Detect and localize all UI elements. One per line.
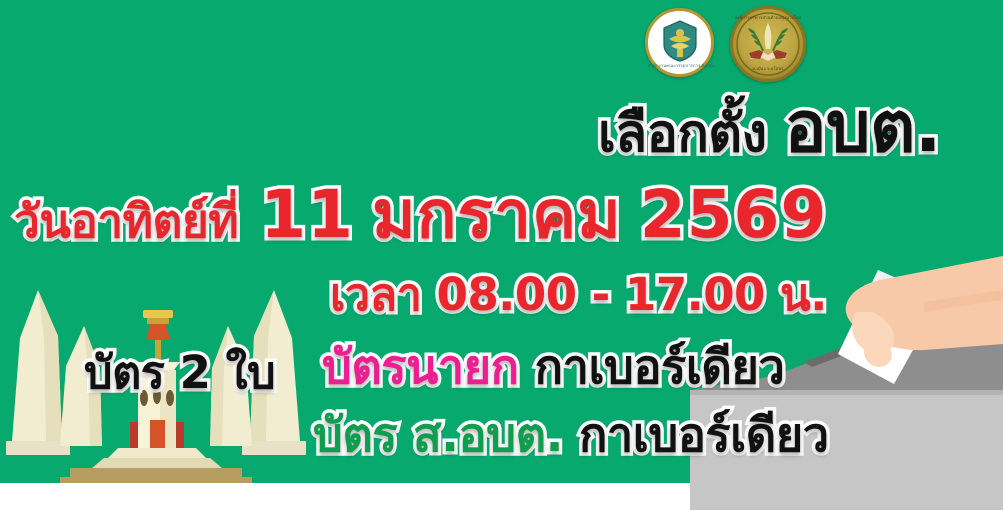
council-ballot-instruction: กาเบอร์เดียว: [579, 408, 829, 463]
council-ballot-label: บัตร ส.อบต.: [313, 408, 563, 463]
election-commission-seal: สำนักงานคณะกรรมการการเลือกตั้ง: [645, 8, 714, 77]
date-month: มกราคม: [372, 176, 622, 253]
voting-hours-line: เวลา 08.00 - 17.00 น.: [330, 272, 827, 317]
local-administration-seal: องค์การบริหารส่วนตำบลทุ่งนางโอก อ.เมือง …: [730, 6, 806, 82]
date-year: 2569: [640, 176, 828, 253]
date-day: 11: [260, 176, 354, 253]
voting-hours-text: เวลา 08.00 - 17.00 น.: [330, 268, 827, 321]
ballot-count-line: บัตร 2 ใบ: [84, 350, 275, 395]
election-announcement-poster: กกต. สำนักงานคณะกรรมการการเลื: [0, 0, 1003, 510]
hand-casting-vote-illustration: [820, 252, 1003, 382]
headline-prefix: เลือกตั้ง: [598, 104, 767, 164]
headline-main: อบต.: [784, 86, 941, 168]
mayor-ballot-label: บัตรนายก: [322, 340, 519, 395]
council-ballot-line: บัตร ส.อบต.กาเบอร์เดียว: [313, 412, 829, 459]
date-weekday-label: วันอาทิตย์ที่: [14, 194, 238, 248]
election-commission-caption: สำนักงานคณะกรรมการการเลือกตั้ง: [648, 64, 711, 68]
election-commission-device-icon: [660, 19, 700, 63]
mayor-ballot-instruction: กาเบอร์เดียว: [535, 340, 785, 395]
ballot-count-text: บัตร 2 ใบ: [84, 346, 275, 399]
election-date-line: วันอาทิตย์ที่11มกราคม2569: [14, 182, 827, 248]
mayor-ballot-line: บัตรนายกกาเบอร์เดียว: [322, 344, 784, 391]
headline: เลือกตั้งอบต.: [598, 92, 941, 162]
